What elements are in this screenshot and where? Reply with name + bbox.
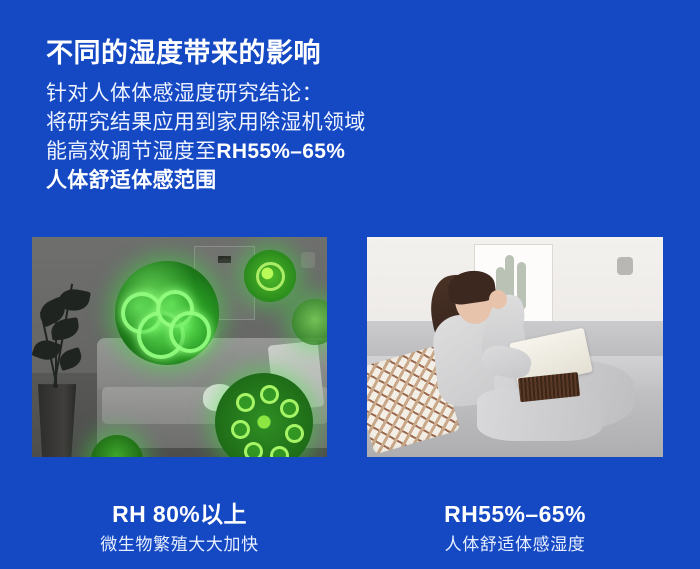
- woman-reading: [414, 263, 639, 452]
- humidity-impact-slide: 不同的湿度带来的影响 针对人体体感湿度研究结论： 将研究结果应用到家用除湿机领域…: [0, 0, 700, 569]
- wall-knob-icon: [301, 252, 315, 268]
- photo-high-humidity: [32, 237, 327, 457]
- copy-line-2: 将研究结果应用到家用除湿机领域: [46, 108, 466, 137]
- comparison-panels: [0, 237, 700, 457]
- dark-room-scene: [32, 237, 327, 457]
- humidity-range-highlight: RH55%–65%: [216, 140, 345, 163]
- copy-line-3-prefix: 能高效调节湿度至: [46, 140, 216, 163]
- potted-plant: [32, 255, 121, 457]
- copy-line-4: 人体舒适体感范围: [46, 166, 466, 195]
- caption-comfort-humidity: RH55%–65% 人体舒适体感湿度: [367, 500, 663, 556]
- hand: [489, 290, 507, 309]
- microbe-cluster-large: [115, 261, 219, 365]
- caption-subtitle: 微生物繁殖大大加快: [32, 534, 327, 556]
- bright-room-scene: [367, 237, 663, 457]
- copy-line-3: 能高效调节湿度至RH55%–65%: [46, 137, 466, 166]
- page-title: 不同的湿度带来的影响: [46, 37, 321, 69]
- caption-title: RH 80%以上: [32, 500, 327, 528]
- body-copy: 针对人体体感湿度研究结论： 将研究结果应用到家用除湿机领域 能高效调节湿度至RH…: [46, 79, 466, 195]
- photo-comfort-humidity: [367, 237, 663, 457]
- copy-line-1: 针对人体体感湿度研究结论：: [46, 79, 466, 108]
- microbe-cluster-lower: [215, 373, 313, 457]
- plant-pot: [36, 384, 77, 457]
- caption-subtitle: 人体舒适体感湿度: [367, 534, 663, 556]
- caption-high-humidity: RH 80%以上 微生物繁殖大大加快: [32, 500, 327, 556]
- caption-title: RH55%–65%: [367, 500, 663, 528]
